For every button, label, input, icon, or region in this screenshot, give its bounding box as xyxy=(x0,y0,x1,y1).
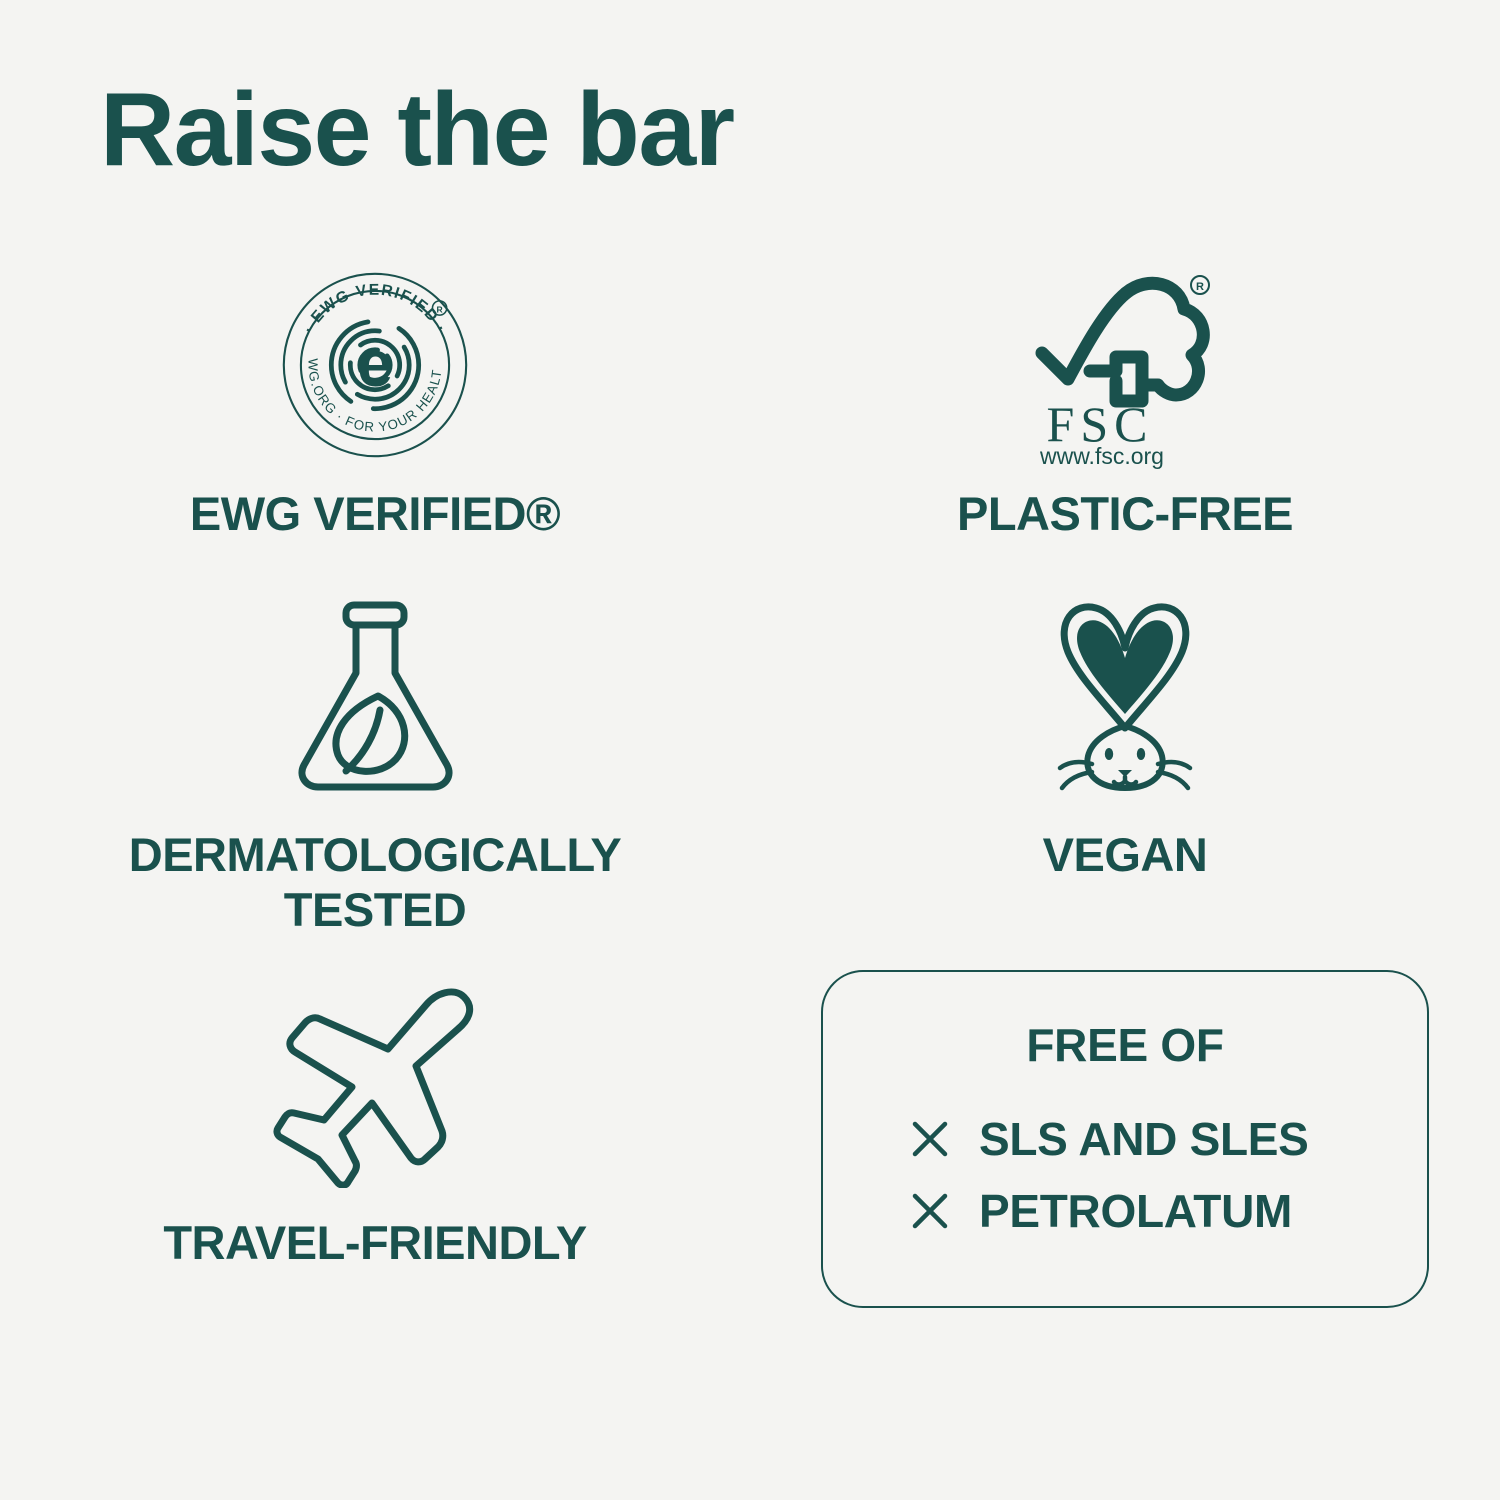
svg-text:www.fsc.org: www.fsc.org xyxy=(1039,443,1164,469)
free-of-item-label: SLS AND SLES xyxy=(979,1112,1309,1166)
badge-vegan: VEGAN xyxy=(750,585,1500,970)
bunny-with-heart-ears-icon xyxy=(1030,585,1220,800)
svg-text:R: R xyxy=(1196,281,1204,293)
fsc-tree-checkmark-icon: R FSC www.fsc.org xyxy=(1030,265,1220,465)
badge-grid: · EWG VERIFIED · EWG.ORG · FOR YOUR HEAL… xyxy=(0,265,1500,1330)
badge-row-2: DERMATOLOGICALLY TESTED xyxy=(0,585,1500,970)
free-of-box: FREE OF SLS AND SLES xyxy=(821,970,1429,1308)
badge-label-travel-friendly: TRAVEL-FRIENDLY xyxy=(163,1216,586,1271)
badge-ewg-verified: · EWG VERIFIED · EWG.ORG · FOR YOUR HEAL… xyxy=(0,265,750,585)
badge-dermatologically-tested: DERMATOLOGICALLY TESTED xyxy=(0,585,750,970)
badge-travel-friendly: TRAVEL-FRIENDLY xyxy=(0,970,750,1330)
page-title: Raise the bar xyxy=(100,78,734,182)
flask-with-leaf-icon xyxy=(288,585,463,800)
badge-label-line-2: TESTED xyxy=(284,883,466,936)
badge-row-1: · EWG VERIFIED · EWG.ORG · FOR YOUR HEAL… xyxy=(0,265,1500,585)
free-of-section: FREE OF SLS AND SLES xyxy=(750,970,1500,1330)
free-of-item: SLS AND SLES xyxy=(909,1112,1427,1166)
free-of-item-label: PETROLATUM xyxy=(979,1184,1292,1238)
free-of-title: FREE OF xyxy=(1026,1018,1223,1072)
badge-label-plastic-free: PLASTIC-FREE xyxy=(957,487,1293,542)
badge-label-ewg-verified: EWG VERIFIED® xyxy=(190,487,560,542)
badge-plastic-free: R FSC www.fsc.org PLASTIC-FREE xyxy=(750,265,1500,585)
free-of-list: SLS AND SLES PETROLATUM xyxy=(823,1112,1427,1238)
airplane-icon xyxy=(268,970,483,1200)
free-of-item: PETROLATUM xyxy=(909,1184,1427,1238)
svg-text:R: R xyxy=(437,304,443,314)
svg-text:e: e xyxy=(357,328,393,400)
x-icon xyxy=(909,1190,951,1232)
ewg-verified-seal-icon: · EWG VERIFIED · EWG.ORG · FOR YOUR HEAL… xyxy=(280,265,470,465)
badge-label-line-1: DERMATOLOGICALLY xyxy=(129,828,621,881)
badge-label-dermatologically-tested: DERMATOLOGICALLY TESTED xyxy=(129,828,621,937)
badge-label-vegan: VEGAN xyxy=(1043,828,1208,883)
badge-row-3: TRAVEL-FRIENDLY FREE OF SLS AND SLES xyxy=(0,970,1500,1330)
x-icon xyxy=(909,1118,951,1160)
infographic-page: Raise the bar xyxy=(0,0,1500,1500)
